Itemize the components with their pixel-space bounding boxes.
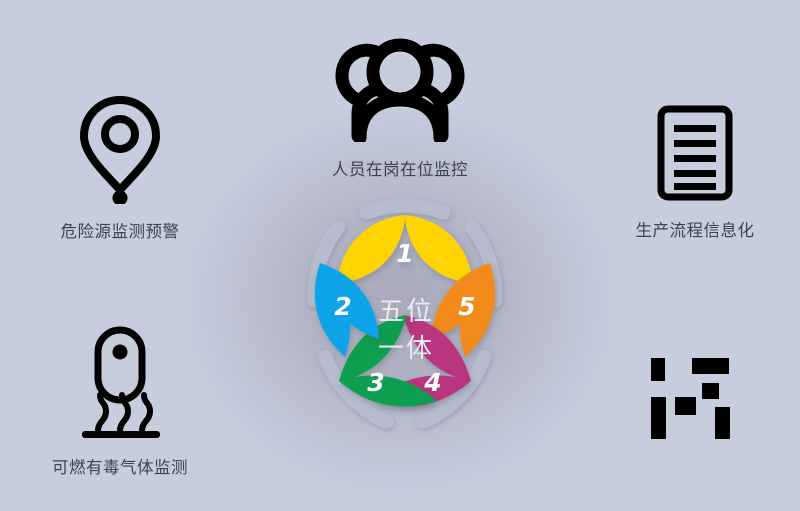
petal-1-number: 1 bbox=[396, 239, 413, 268]
feature-plant-blocks[interactable] bbox=[600, 350, 790, 464]
five-in-one-wheel: 1 5 4 3 bbox=[275, 185, 535, 445]
document-lines-icon bbox=[651, 103, 739, 203]
feature-gas-monitoring[interactable]: 可燃有毒气体监测 bbox=[20, 325, 220, 478]
center-text-line-2: 一体 bbox=[378, 334, 434, 364]
feature-gas-caption: 可燃有毒气体监测 bbox=[52, 454, 188, 478]
center-text-line-1: 五位 bbox=[378, 297, 434, 327]
petal-3-number: 3 bbox=[367, 368, 384, 397]
location-pin-icon bbox=[70, 92, 170, 204]
feature-process-caption: 生产流程信息化 bbox=[636, 217, 755, 241]
feature-personnel-caption: 人员在岗在位监控 bbox=[332, 156, 468, 180]
feature-hazard-monitoring[interactable]: 危险源监测预警 bbox=[20, 92, 220, 242]
feature-personnel-monitoring[interactable]: 人员在岗在位监控 bbox=[305, 32, 495, 180]
people-group-icon bbox=[324, 32, 476, 142]
petal-5-number: 5 bbox=[458, 292, 475, 321]
factory-blocks-icon bbox=[643, 350, 748, 450]
feature-hazard-caption: 危险源监测预警 bbox=[61, 218, 180, 242]
infographic-canvas: 危险源监测预警 人员在岗在位监控 bbox=[0, 0, 800, 511]
feature-process-informatization[interactable]: 生产流程信息化 bbox=[600, 103, 790, 241]
petal-2-number: 2 bbox=[334, 292, 351, 321]
gas-detector-icon bbox=[70, 325, 170, 440]
